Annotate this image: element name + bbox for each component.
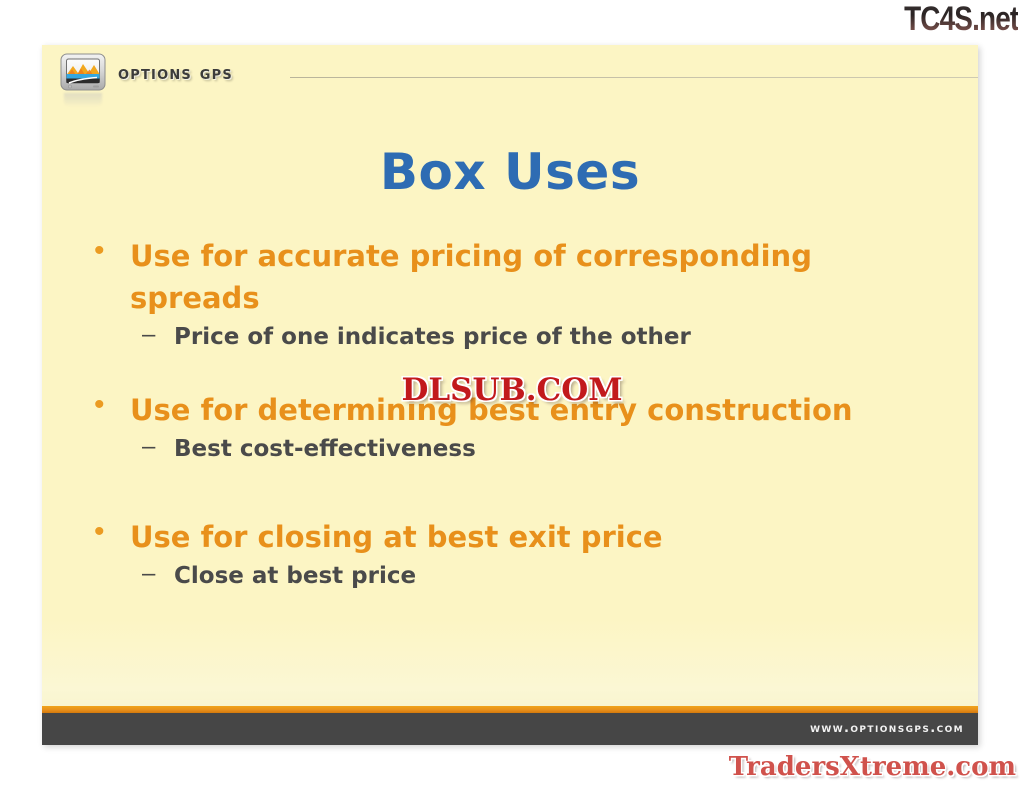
page-title: Box Uses	[42, 143, 978, 201]
footer-url: www.OptionsGPS.com	[810, 721, 964, 736]
bullet-marker: –	[142, 321, 174, 347]
spacer	[94, 468, 954, 502]
list-item: – Price of one indicates price of the ot…	[142, 321, 954, 353]
bullet-text: Price of one indicates price of the othe…	[174, 321, 691, 353]
tc4s-watermark: TC4S.net	[904, 2, 1018, 38]
header-divider	[290, 77, 978, 78]
bullet-text: Close at best price	[174, 560, 416, 592]
bullet-text: Use for closing at best exit price	[130, 516, 663, 558]
list-item: – Best cost-effectiveness	[142, 433, 954, 465]
bullet-marker: •	[94, 516, 130, 547]
bullet-marker: –	[142, 433, 174, 459]
logo-reflection	[64, 93, 102, 107]
bullet-text: Use for accurate pricing of correspondin…	[130, 235, 920, 319]
accent-bar	[42, 706, 978, 713]
spacer	[94, 502, 954, 516]
list-item: • Use for accurate pricing of correspond…	[94, 235, 954, 319]
bullet-marker: –	[142, 560, 174, 586]
bullet-marker: •	[94, 235, 130, 266]
gps-device-icon	[60, 51, 106, 95]
brand-name: Options GPS	[118, 62, 233, 84]
slide-footer: www.OptionsGPS.com	[42, 713, 978, 745]
list-item: – Close at best price	[142, 560, 954, 592]
slide-header: Options GPS	[42, 45, 978, 95]
tradersxtreme-watermark: TradersXtreme.com	[729, 752, 1016, 782]
bullet-list: • Use for accurate pricing of correspond…	[94, 235, 954, 594]
dlsub-watermark: DLSUB.COM	[0, 372, 1024, 408]
list-item: • Use for closing at best exit price	[94, 516, 954, 558]
bullet-text: Best cost-effectiveness	[174, 433, 476, 465]
